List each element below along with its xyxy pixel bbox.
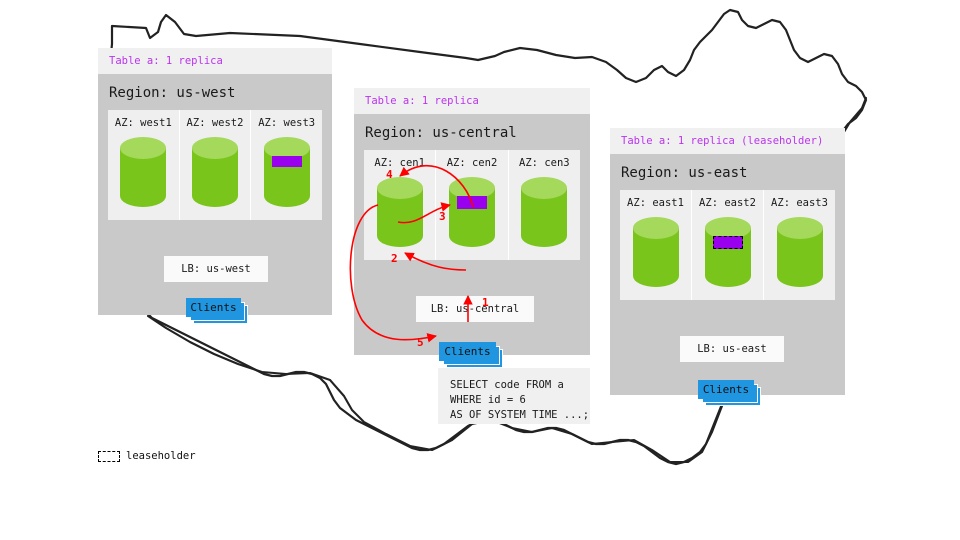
legend-label: leaseholder xyxy=(126,450,196,462)
az-east2[interactable]: AZ: east2 xyxy=(692,190,764,300)
region-title-us-central: Region: us-central xyxy=(354,114,590,150)
dashed-rect-icon xyxy=(98,451,120,462)
az-label: AZ: west1 xyxy=(115,117,172,129)
az-cen1[interactable]: AZ: cen1 xyxy=(364,150,436,260)
load-balancer-us-west[interactable]: LB: us-west xyxy=(164,256,268,282)
clients-label[interactable]: Clients xyxy=(186,298,241,317)
region-title-us-west: Region: us-west xyxy=(98,74,332,110)
node-cylinder[interactable] xyxy=(263,136,311,208)
arrow-label-2: 2 xyxy=(391,252,398,265)
az-east3[interactable]: AZ: east3 xyxy=(764,190,835,300)
clients-label[interactable]: Clients xyxy=(439,342,496,361)
region-banner-us-west: Table a: 1 replica xyxy=(98,48,332,74)
node-cylinder[interactable] xyxy=(704,216,752,288)
clients-us-west[interactable]: Clients xyxy=(186,298,248,324)
region-us-east: Table a: 1 replica (leaseholder) Region:… xyxy=(610,128,845,395)
az-strip-us-central: AZ: cen1 AZ: cen2 xyxy=(364,150,580,260)
az-strip-us-west: AZ: west1 AZ: west2 xyxy=(108,110,322,220)
load-balancer-us-east[interactable]: LB: us-east xyxy=(680,336,784,362)
arrow-label-3: 3 xyxy=(439,210,446,223)
replica-range[interactable] xyxy=(272,156,302,167)
clients-label[interactable]: Clients xyxy=(698,380,754,399)
region-title-us-east: Region: us-east xyxy=(610,154,845,190)
az-label: AZ: west3 xyxy=(258,117,315,129)
arrow-label-1: 1 xyxy=(482,296,489,309)
az-label: AZ: east2 xyxy=(699,197,756,209)
az-label: AZ: west2 xyxy=(187,117,244,129)
region-us-west: Table a: 1 replica Region: us-west AZ: w… xyxy=(98,48,332,315)
replica-range-leaseholder[interactable] xyxy=(713,236,743,249)
replica-range[interactable] xyxy=(457,196,487,209)
az-label: AZ: east3 xyxy=(771,197,828,209)
az-cen3[interactable]: AZ: cen3 xyxy=(509,150,580,260)
node-cylinder[interactable] xyxy=(448,176,496,248)
arrow-label-5: 5 xyxy=(417,336,424,349)
node-cylinder[interactable] xyxy=(632,216,680,288)
az-east1[interactable]: AZ: east1 xyxy=(620,190,692,300)
node-cylinder[interactable] xyxy=(119,136,167,208)
arrow-label-4: 4 xyxy=(386,168,393,181)
node-cylinder[interactable] xyxy=(776,216,824,288)
az-label: AZ: cen3 xyxy=(519,157,570,169)
az-cen2[interactable]: AZ: cen2 xyxy=(436,150,508,260)
az-west3[interactable]: AZ: west3 xyxy=(251,110,322,220)
region-us-central: Table a: 1 replica Region: us-central AZ… xyxy=(354,88,590,355)
az-label: AZ: east1 xyxy=(627,197,684,209)
legend: leaseholder xyxy=(98,450,196,462)
clients-us-east[interactable]: Clients xyxy=(698,380,762,406)
diagram-canvas: Table a: 1 replica Region: us-west AZ: w… xyxy=(0,0,960,540)
az-west2[interactable]: AZ: west2 xyxy=(180,110,252,220)
clients-us-central[interactable]: Clients xyxy=(439,342,505,368)
node-cylinder[interactable] xyxy=(191,136,239,208)
az-label: AZ: cen2 xyxy=(447,157,498,169)
node-cylinder[interactable] xyxy=(376,176,424,248)
region-banner-us-central: Table a: 1 replica xyxy=(354,88,590,114)
az-west1[interactable]: AZ: west1 xyxy=(108,110,180,220)
region-banner-us-east: Table a: 1 replica (leaseholder) xyxy=(610,128,845,154)
sql-query-box: SELECT code FROM a WHERE id = 6 AS OF SY… xyxy=(438,368,590,424)
az-strip-us-east: AZ: east1 AZ: east2 xyxy=(620,190,835,300)
az-label: AZ: cen1 xyxy=(374,157,425,169)
load-balancer-us-central[interactable]: LB: us-central xyxy=(416,296,534,322)
node-cylinder[interactable] xyxy=(520,176,568,248)
